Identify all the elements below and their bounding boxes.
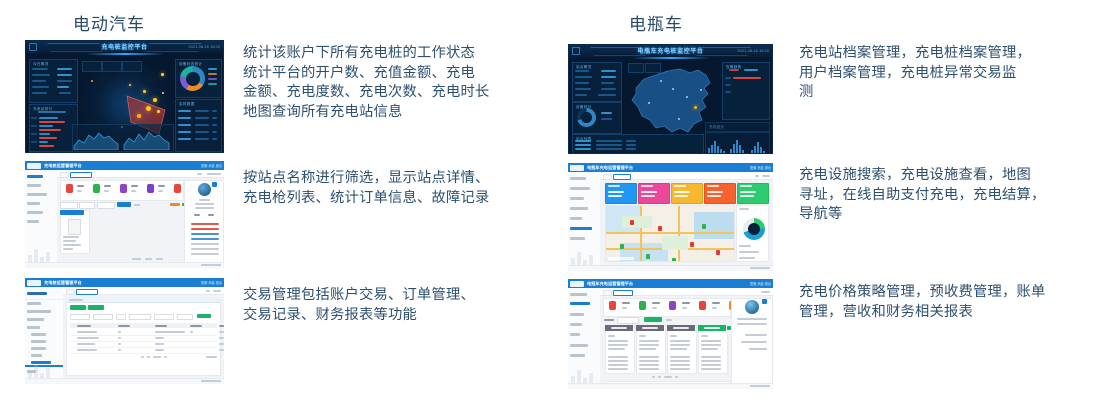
admin-content	[57, 170, 224, 268]
admin-station-detail: 充电桩运营管理平台 配置 消息 退出	[25, 161, 224, 268]
tab-active[interactable]	[70, 172, 92, 178]
admin-footer	[568, 265, 773, 271]
footer-text	[750, 385, 770, 387]
map-marker[interactable]	[716, 250, 720, 255]
filter-type[interactable]	[116, 314, 126, 320]
admin-sidebar[interactable]	[25, 287, 64, 384]
sidebar-watermark	[569, 245, 595, 267]
sidebar-item[interactable]	[27, 220, 39, 223]
search-button[interactable]	[117, 202, 131, 207]
status-icon-fault[interactable]	[66, 184, 73, 193]
screenshot-eb-monitor-dashboard[interactable]: 电瓶车充电桩监控平台 2021-08-16 15:20 站点概况	[568, 44, 773, 154]
search-input[interactable]	[617, 317, 639, 324]
map-marker[interactable]	[630, 220, 634, 225]
sidebar-item[interactable]	[570, 207, 588, 210]
tab-active[interactable]	[76, 289, 98, 295]
sidebar-watermark	[26, 242, 52, 264]
tab-breadcrumb	[213, 290, 221, 292]
footer-text	[201, 264, 221, 266]
tab-bar	[63, 287, 224, 295]
pagination-next[interactable]	[164, 356, 167, 358]
facility-map[interactable]	[605, 205, 735, 262]
badge-icon	[762, 299, 767, 304]
admin-sidebar[interactable]	[25, 170, 58, 268]
map-marker[interactable]	[646, 254, 650, 259]
sidebar-item[interactable]	[570, 217, 582, 220]
sidebar-watermark	[569, 363, 595, 385]
badge-icon	[212, 182, 217, 187]
pagination-prev[interactable]	[652, 376, 655, 378]
bi-dashboard-ev: 充电桩监控平台 2021-08-16 15:20	[25, 40, 224, 153]
screenshot-ev-station-detail[interactable]: 充电桩运营管理平台 配置 消息 退出	[25, 161, 224, 268]
legend-chip	[170, 203, 180, 206]
status-icon-idle[interactable]	[639, 301, 646, 310]
sidebar-item[interactable]	[27, 193, 47, 196]
sidebar-item[interactable]	[570, 177, 586, 180]
tab-home[interactable]	[60, 172, 69, 178]
sidebar-subitem[interactable]	[31, 333, 46, 336]
tab-bar	[600, 172, 773, 180]
topbar-actions[interactable]: 配置 消息 退出	[201, 280, 222, 285]
map-marker[interactable]	[690, 242, 694, 247]
rail-action-icon[interactable]	[208, 214, 214, 216]
topbar-actions[interactable]: 配置 消息 退出	[201, 163, 222, 168]
app-logo	[570, 165, 584, 171]
pagination-prev[interactable]	[141, 356, 144, 358]
filter-account[interactable]	[93, 314, 113, 320]
description-eb-facility: 充电设施搜索，充电设施查看，地图 寻址，在线自助支付充电，充电结算， 导航等	[799, 166, 1111, 225]
sidebar-item[interactable]	[570, 187, 590, 190]
status-icon-idle[interactable]	[93, 184, 100, 193]
tab-tool-icon[interactable]	[197, 173, 202, 175]
filter-order-no[interactable]	[70, 314, 90, 320]
tab-breadcrumb	[762, 175, 770, 177]
column-header	[190, 325, 202, 327]
admin-price-strategy: 电瓶车充电运营管理平台 配置 消息 退出	[568, 279, 773, 389]
sidebar-subitem[interactable]	[31, 340, 46, 343]
reset-link[interactable]	[666, 319, 672, 321]
sidebar-item[interactable]	[27, 292, 47, 295]
search-button[interactable]	[644, 317, 662, 322]
tab-home[interactable]	[66, 289, 75, 295]
admin-footer	[568, 383, 773, 389]
map-marker[interactable]	[620, 244, 624, 249]
admin-facility-map: 电瓶车充电运营管理平台 配置 消息 退出	[568, 163, 773, 271]
sidebar-item[interactable]	[570, 323, 582, 326]
filter-input-station[interactable]	[60, 202, 78, 209]
description-ev-station: 按站点名称进行筛选，显示站点详情、 充电枪列表、统计订单信息、故障记录	[243, 169, 553, 208]
tab-home[interactable]	[603, 290, 612, 296]
admin-footer	[25, 378, 224, 384]
admin-content	[600, 288, 773, 389]
sidebar-watermark	[26, 358, 52, 380]
admin-content	[600, 172, 773, 271]
column-title-electric-vehicle: 电动汽车	[73, 10, 145, 35]
sidebar-item[interactable]	[27, 184, 41, 187]
description-ev-monitor: 统计该账户下所有充电桩的工作状态 统计平台的开户数、充值金额、充电 金额、充电度…	[243, 44, 553, 122]
sidebar-item[interactable]	[27, 318, 44, 321]
map-marker[interactable]	[658, 226, 662, 231]
status-icon-offline[interactable]	[147, 184, 154, 193]
admin-sidebar[interactable]	[568, 288, 601, 389]
tab-breadcrumb	[207, 173, 221, 175]
filter-select-type[interactable]	[79, 202, 95, 209]
pagination-page[interactable]	[147, 356, 150, 358]
sidebar-item[interactable]	[27, 175, 43, 178]
status-icon-alarm[interactable]	[699, 301, 706, 310]
sidebar-item[interactable]	[570, 344, 588, 347]
gun-card-header	[60, 210, 84, 215]
sidebar-item[interactable]	[570, 293, 587, 296]
map-attribution	[608, 257, 634, 260]
filter-date-to[interactable]	[154, 314, 174, 320]
map-marker[interactable]	[672, 258, 676, 262]
tab-order-management[interactable]	[88, 305, 104, 310]
pagination-input[interactable]	[664, 376, 672, 378]
pagination-total	[206, 356, 217, 358]
tab-bar	[600, 288, 773, 296]
pagination-page[interactable]	[658, 376, 661, 378]
app-name: 电瓶车充电运营管理平台	[587, 165, 633, 171]
sidebar-item[interactable]	[27, 302, 41, 305]
sidebar-item[interactable]	[570, 237, 585, 240]
tab-home[interactable]	[603, 174, 612, 180]
sidebar-item[interactable]	[570, 354, 585, 357]
status-icon-charging[interactable]	[669, 301, 676, 310]
panel-header	[66, 297, 221, 303]
app-logo	[570, 281, 584, 287]
tab-active[interactable]	[613, 174, 631, 180]
slide-root: 电动汽车 电瓶车 充电桩监控平台 2021-08-16 15:20	[0, 0, 1118, 406]
app-name: 电瓶车充电运营管理平台	[587, 281, 633, 287]
status-icon-alarm[interactable]	[174, 184, 181, 193]
description-ev-transactions: 交易管理包括账户交易、订单管理、 交易记录、财务报表等功能	[243, 286, 553, 325]
column-header	[155, 325, 167, 327]
admin-content	[63, 287, 224, 384]
status-icon-charging[interactable]	[120, 184, 127, 193]
screenshot-eb-price-strategy[interactable]: 电瓶车充电运营管理平台 配置 消息 退出	[568, 279, 773, 389]
reset-link[interactable]	[134, 204, 140, 206]
app-logo	[27, 163, 41, 169]
pagination-next[interactable]	[675, 376, 678, 378]
status-icon-fault[interactable]	[609, 301, 616, 310]
description-eb-pricing: 充电价格策略管理，预收费管理，账单 管理，营收和财务相关报表	[799, 283, 1111, 322]
gun-thumbnail	[68, 219, 81, 235]
filter-select-status[interactable]	[97, 202, 115, 209]
search-label	[604, 319, 614, 321]
sidebar-item-active[interactable]	[570, 227, 592, 230]
sidebar-subitem[interactable]	[31, 347, 46, 350]
screenshot-eb-facility-map[interactable]: 电瓶车充电运营管理平台 配置 消息 退出	[568, 163, 773, 271]
topbar-actions[interactable]: 配置 消息 退出	[750, 281, 771, 286]
sidebar-item[interactable]	[570, 333, 580, 336]
avatar	[198, 183, 211, 196]
app-name: 充电桩运营管理平台	[44, 163, 82, 169]
column-header	[77, 325, 91, 327]
sidebar-item[interactable]	[570, 313, 584, 316]
rail-action-icon[interactable]	[194, 214, 200, 216]
column-header	[219, 325, 224, 327]
sidebar-item[interactable]	[27, 310, 51, 313]
sidebar-item-active[interactable]	[570, 302, 590, 305]
tab-tool-icon[interactable]	[755, 175, 759, 177]
sidebar-subitem[interactable]	[31, 354, 42, 357]
map-marker[interactable]	[702, 224, 706, 229]
column-title-electric-bike: 电瓶车	[629, 10, 683, 35]
admin-footer	[25, 262, 224, 268]
usage-donut	[743, 218, 765, 240]
query-button[interactable]	[197, 314, 211, 318]
bi-dashboard-eb: 电瓶车充电桩监控平台 2021-08-16 15:20 站点概况	[568, 44, 773, 154]
sidebar-item[interactable]	[27, 202, 40, 205]
tab-active[interactable]	[613, 290, 633, 296]
app-name: 充电桩运营管理平台	[44, 280, 82, 286]
sidebar-item[interactable]	[27, 211, 43, 214]
footer-text	[201, 380, 221, 382]
admin-transactions: 充电桩运营管理平台 配置 消息 退出	[25, 278, 224, 384]
footer-text	[750, 267, 770, 269]
pagination-input[interactable]	[153, 356, 161, 358]
screenshot-ev-monitor-dashboard[interactable]: 充电桩监控平台 2021-08-16 15:20	[25, 40, 224, 153]
tab-tool-icon[interactable]	[206, 290, 210, 292]
filter-date-from[interactable]	[129, 314, 151, 320]
column-header	[118, 325, 130, 327]
description-eb-archive: 充电站档案管理，充电桩档案管理， 用户档案管理，充电桩异常交易监 测	[799, 44, 1111, 103]
topbar-actions[interactable]: 配置 消息 退出	[750, 165, 771, 170]
app-logo	[27, 280, 41, 286]
tab-account-transactions[interactable]	[70, 305, 86, 310]
screenshot-ev-transactions[interactable]: 充电桩运营管理平台 配置 消息 退出	[25, 278, 224, 384]
sidebar-item[interactable]	[27, 326, 40, 329]
tab-breadcrumb	[761, 291, 770, 293]
tab-bar	[57, 170, 224, 178]
admin-sidebar[interactable]	[568, 172, 601, 271]
sidebar-item[interactable]	[570, 197, 584, 200]
avatar	[745, 300, 759, 314]
